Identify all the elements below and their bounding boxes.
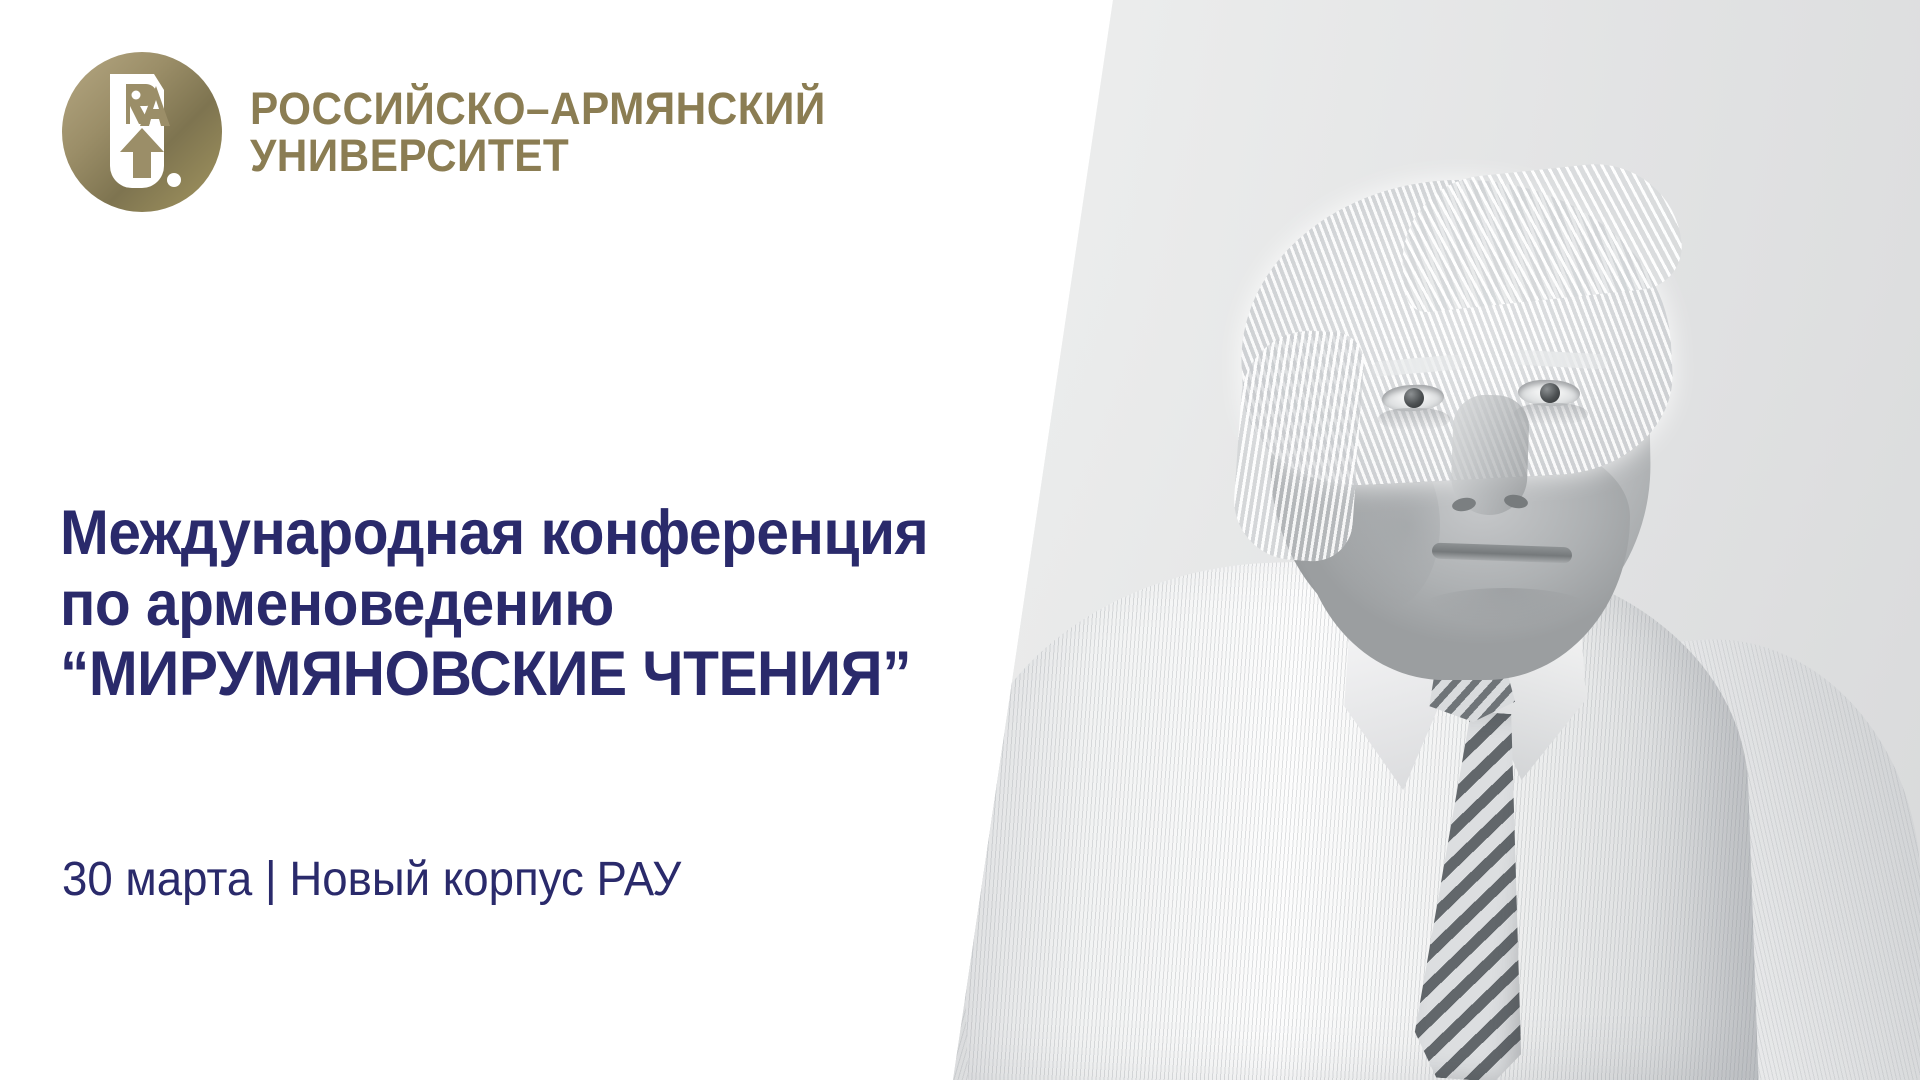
event-title-line-2: по арменоведению	[60, 569, 953, 640]
brand-name: РОССИЙСКО–АРМЯНСКИЙУНИВЕРСИТЕТ	[250, 85, 826, 180]
event-title-line-1: Международная конференция	[60, 498, 953, 569]
content-pane: РОССИЙСКО–АРМЯНСКИЙУНИВЕРСИТЕТ Междунаро…	[0, 0, 1060, 1080]
brand-lockup: РОССИЙСКО–АРМЯНСКИЙУНИВЕРСИТЕТ	[62, 52, 863, 212]
chin-shadow	[1420, 588, 1590, 628]
eye-bag-left	[1378, 408, 1450, 430]
event-meta: 30 марта | Новый корпус РАУ	[62, 852, 714, 907]
rau-monogram-icon	[62, 52, 222, 212]
pupil-left	[1404, 388, 1424, 408]
event-banner: РОССИЙСКО–АРМЯНСКИЙУНИВЕРСИТЕТ Междунаро…	[0, 0, 1920, 1080]
brand-name-line1: РОССИЙСКО–АРМЯНСКИЙ	[250, 83, 826, 134]
event-title-line-3: “МИРУМЯНОВСКИЕ ЧТЕНИЯ”	[60, 639, 953, 710]
event-title: Международная конференция по арменоведен…	[60, 498, 1020, 710]
event-date-venue: 30 марта | Новый корпус РАУ	[62, 852, 681, 907]
brand-name-line2: УНИВЕРСИТЕТ	[250, 130, 569, 181]
pupil-right	[1540, 383, 1560, 403]
